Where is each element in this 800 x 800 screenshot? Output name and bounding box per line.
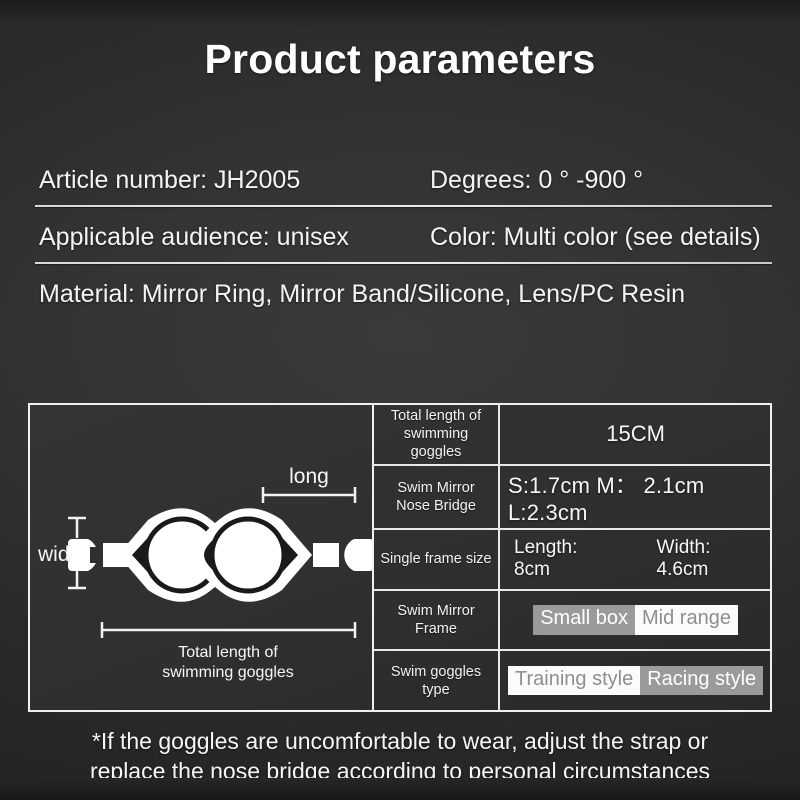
long-dimension-label: long [289,465,329,488]
row-value-goggles-type: Training style Racing style [500,651,771,710]
footer-note-line2: replace the nose bridge according to per… [0,756,800,786]
spec-material: Material: Mirror Ring, Mirror Band/Silic… [39,280,685,309]
table-row: Swim goggles type Training style Racing … [374,651,771,710]
row-label-mirror-frame: Swim Mirror Frame [374,591,500,650]
total-length-dimension-line [102,622,355,638]
frame-length-value: Length: 8cm [514,537,615,581]
table-row: Swim Mirror Frame Small box Mid range [374,591,771,652]
specification-list: Article number: JH2005 Degrees: 0 ° -900… [35,150,772,321]
dimensions-table: Total length of swimming goggles 15CM Sw… [374,405,771,710]
mirror-frame-options: Small box Mid range [533,605,738,635]
row-label-line1: Swim Mirror [397,480,474,496]
table-row: Swim Mirror Nose Bridge S:1.7cm M： 2.1cm… [374,466,771,530]
frame-width-value: Width: 4.6cm [657,537,764,581]
total-length-label-line2: swimming goggles [162,664,294,681]
option-small-box[interactable]: Small box [533,605,635,635]
spec-degrees: Degrees: 0 ° -900 ° [430,166,643,195]
goggles-diagram: long wide [30,405,374,710]
long-dimension-line [263,487,355,503]
spec-article-number: Article number: JH2005 [39,166,300,195]
row-value-single-frame-size: Length: 8cm Width: 4.6cm [500,530,771,589]
spec-row: Applicable audience: unisex Color: Multi… [35,207,772,264]
total-length-label-line1: Total length of [178,644,278,661]
row-label-total-length: Total length of swimming goggles [374,405,500,464]
row-label-single-frame-size: Single frame size [374,530,500,589]
row-value-total-length: 15CM [500,405,771,464]
dimensions-panel: long wide [28,403,772,712]
row-value-mirror-frame: Small box Mid range [500,591,771,650]
table-row: Single frame size Length: 8cm Width: 4.6… [374,530,771,591]
spec-row: Article number: JH2005 Degrees: 0 ° -900… [35,150,772,207]
footer-note: *If the goggles are uncomfortable to wea… [0,726,800,787]
goggles-illustration: long wide [30,405,372,710]
row-label-nose-bridge: Swim Mirror Nose Bridge [374,466,500,528]
row-value-nose-bridge: S:1.7cm M： 2.1cm L:2.3cm [500,466,771,528]
footer-note-line1: *If the goggles are uncomfortable to wea… [0,726,800,756]
spec-row: Material: Mirror Ring, Mirror Band/Silic… [35,264,772,321]
product-parameters-page: Product parameters Article number: JH200… [0,0,800,800]
row-label-goggles-type: Swim goggles type [374,651,500,710]
goggles-type-options: Training style Racing style [508,666,763,696]
right-strap-clip [313,539,372,571]
spec-applicable-audience: Applicable audience: unisex [39,223,349,252]
row-label-line2: Nose Bridge [396,498,476,514]
option-mid-range[interactable]: Mid range [635,605,738,635]
table-row: Total length of swimming goggles 15CM [374,405,771,466]
option-training-style[interactable]: Training style [508,666,640,696]
row-label-line2: swimming goggles [404,426,468,460]
page-title: Product parameters [0,36,800,83]
row-label-line1: Total length of [391,408,481,424]
option-racing-style[interactable]: Racing style [640,666,763,696]
spec-color: Color: Multi color (see details) [430,223,761,252]
